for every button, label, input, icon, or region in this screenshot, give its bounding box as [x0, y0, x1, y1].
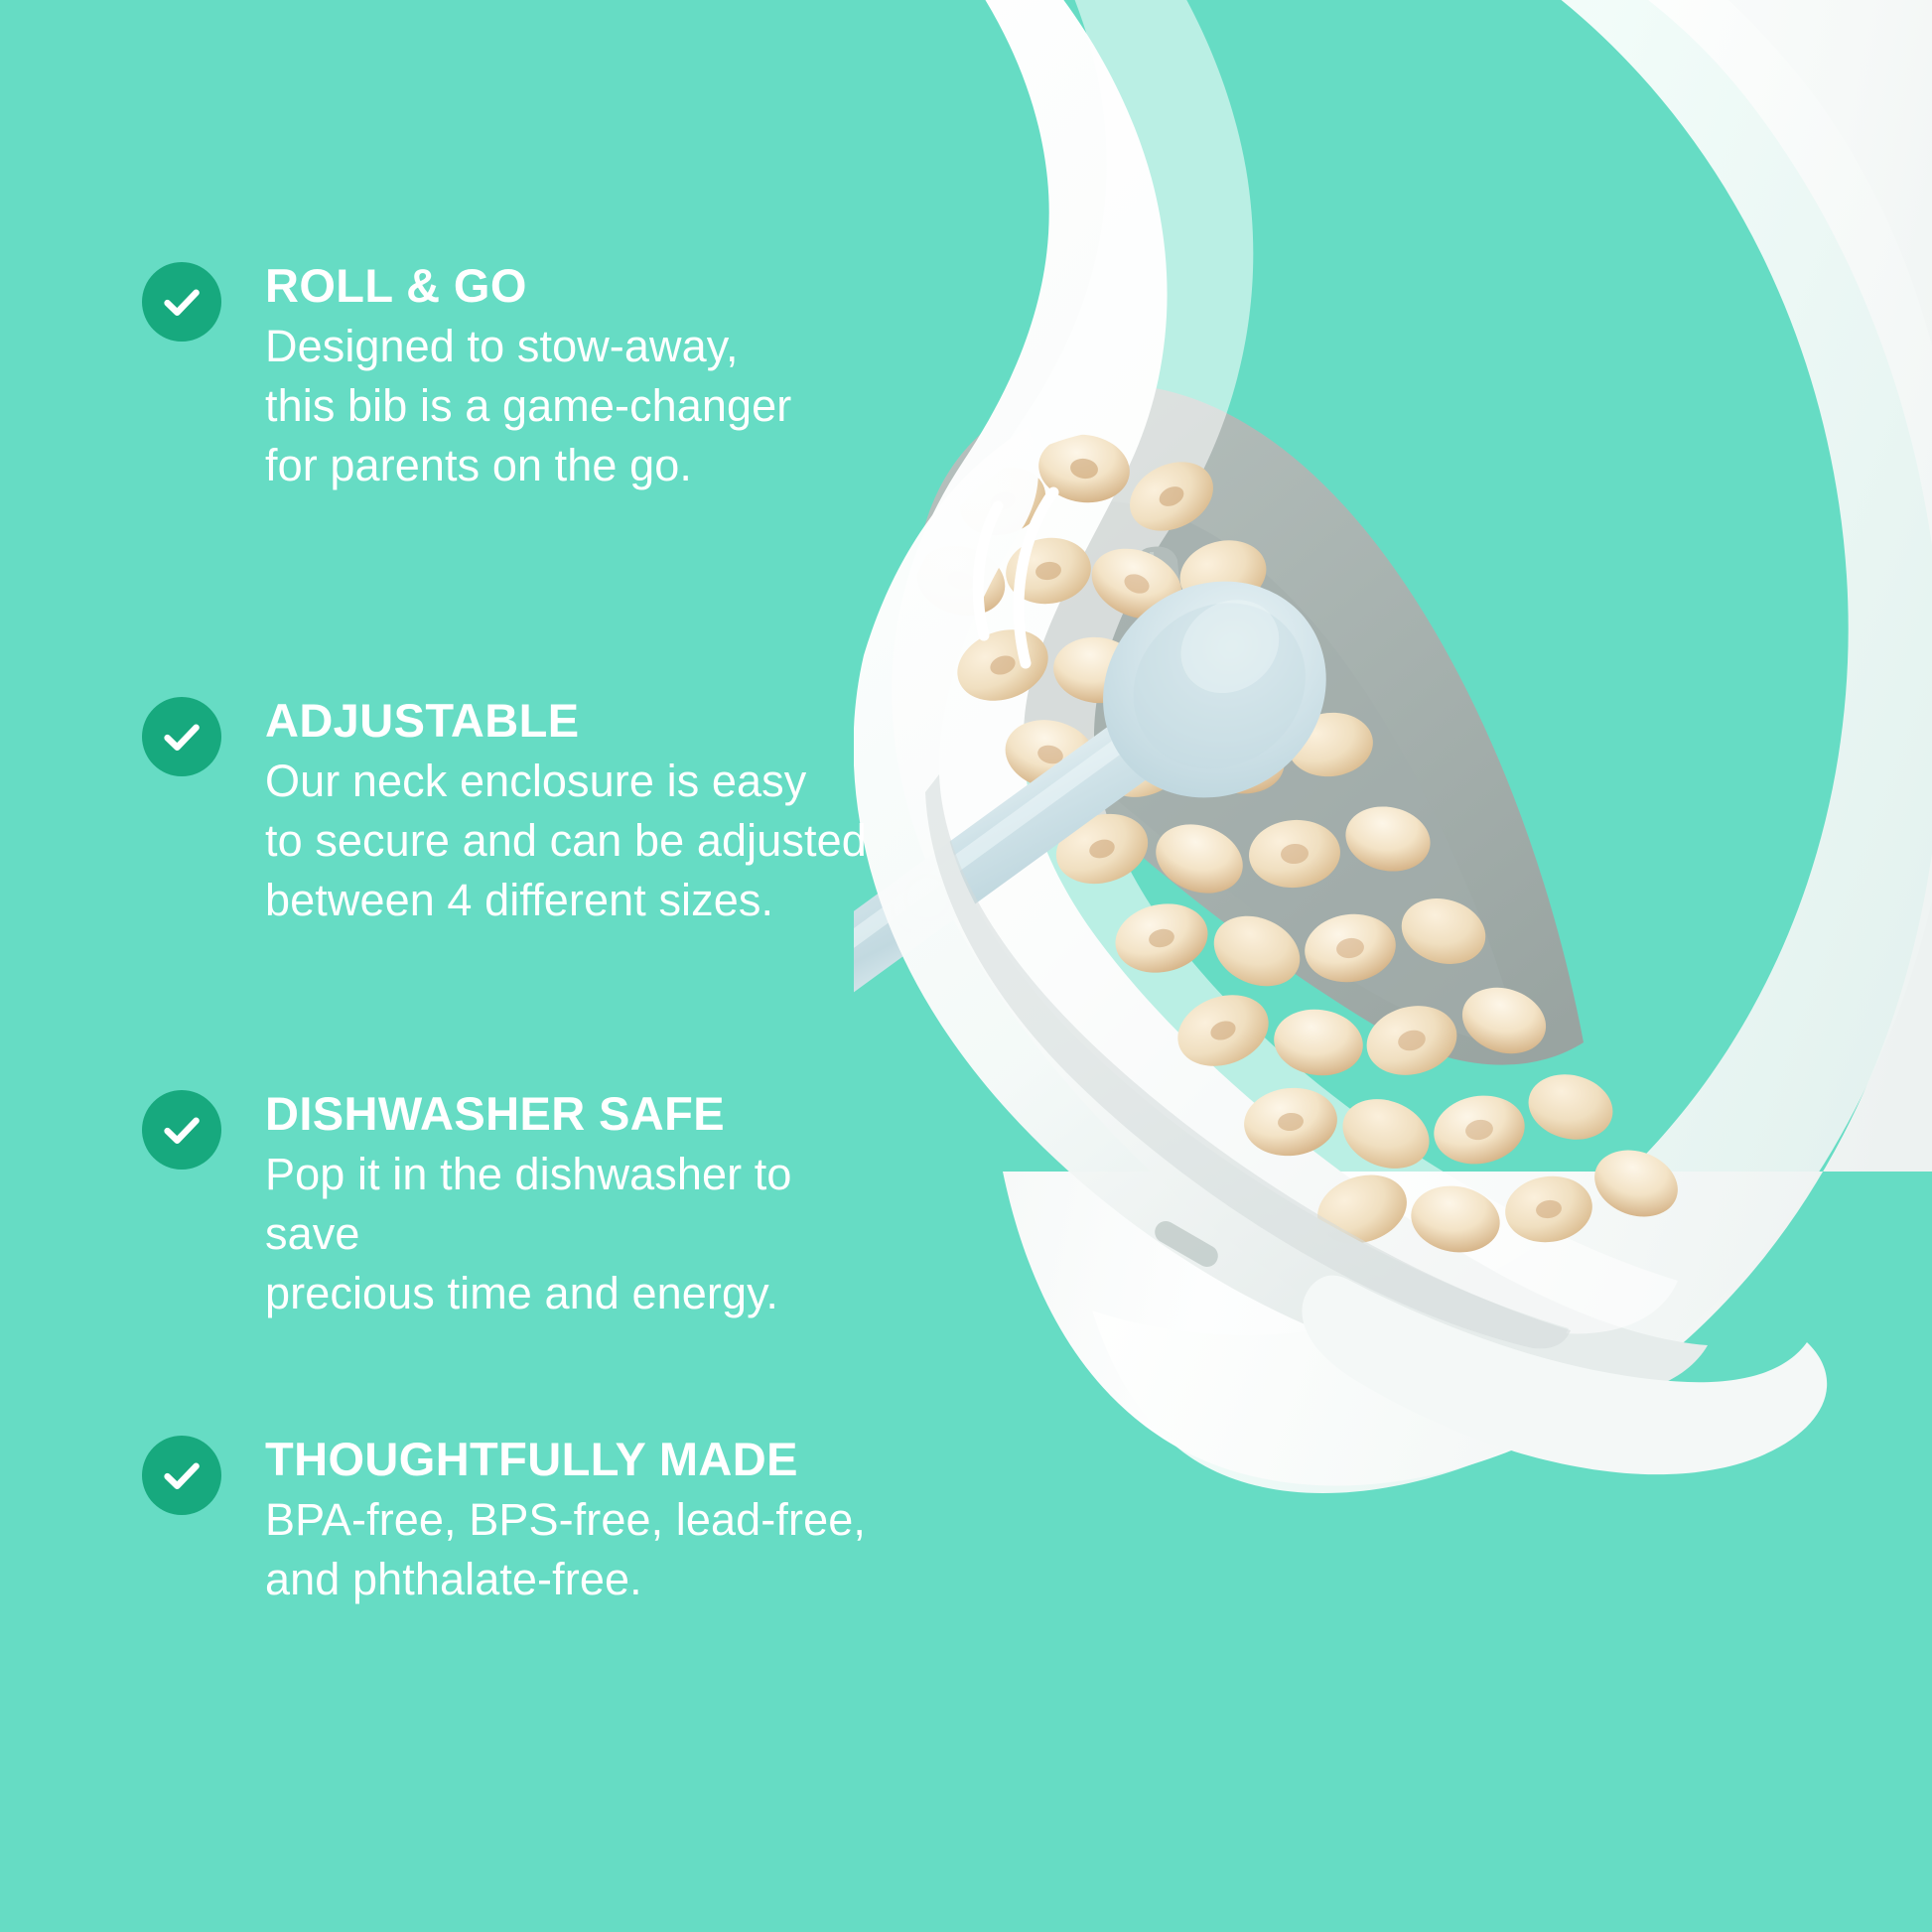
feature-item-thoughtfully-made: THOUGHTFULLY MADE BPA-free, BPS-free, le… [142, 1434, 877, 1609]
feature-text-block: ROLL & GO Designed to stow-away, this bi… [265, 260, 791, 494]
check-icon [142, 1436, 221, 1515]
feature-item-adjustable: ADJUSTABLE Our neck enclosure is easy to… [142, 695, 877, 929]
feature-item-roll-and-go: ROLL & GO Designed to stow-away, this bi… [142, 260, 877, 494]
check-icon [142, 697, 221, 776]
feature-body: Our neck enclosure is easy to secure and… [265, 752, 867, 930]
feature-list: ROLL & GO Designed to stow-away, this bi… [0, 0, 894, 1932]
feature-text-block: THOUGHTFULLY MADE BPA-free, BPS-free, le… [265, 1434, 866, 1609]
infographic-canvas: ROLL & GO Designed to stow-away, this bi… [0, 0, 1932, 1932]
feature-body: Pop it in the dishwasher to save preciou… [265, 1145, 877, 1323]
feature-text-block: ADJUSTABLE Our neck enclosure is easy to… [265, 695, 867, 929]
feature-body: Designed to stow-away, this bib is a gam… [265, 317, 791, 495]
feature-title: ROLL & GO [265, 262, 791, 311]
check-icon [142, 262, 221, 342]
product-photo [854, 0, 1932, 1648]
feature-text-block: DISHWASHER SAFE Pop it in the dishwasher… [265, 1088, 877, 1322]
feature-title: THOUGHTFULLY MADE [265, 1436, 866, 1484]
feature-item-dishwasher-safe: DISHWASHER SAFE Pop it in the dishwasher… [142, 1088, 877, 1322]
feature-title: DISHWASHER SAFE [265, 1090, 877, 1139]
feature-title: ADJUSTABLE [265, 697, 867, 746]
motion-lines-decoration [968, 486, 1077, 675]
check-icon [142, 1090, 221, 1170]
feature-body: BPA-free, BPS-free, lead-free, and phtha… [265, 1490, 866, 1609]
